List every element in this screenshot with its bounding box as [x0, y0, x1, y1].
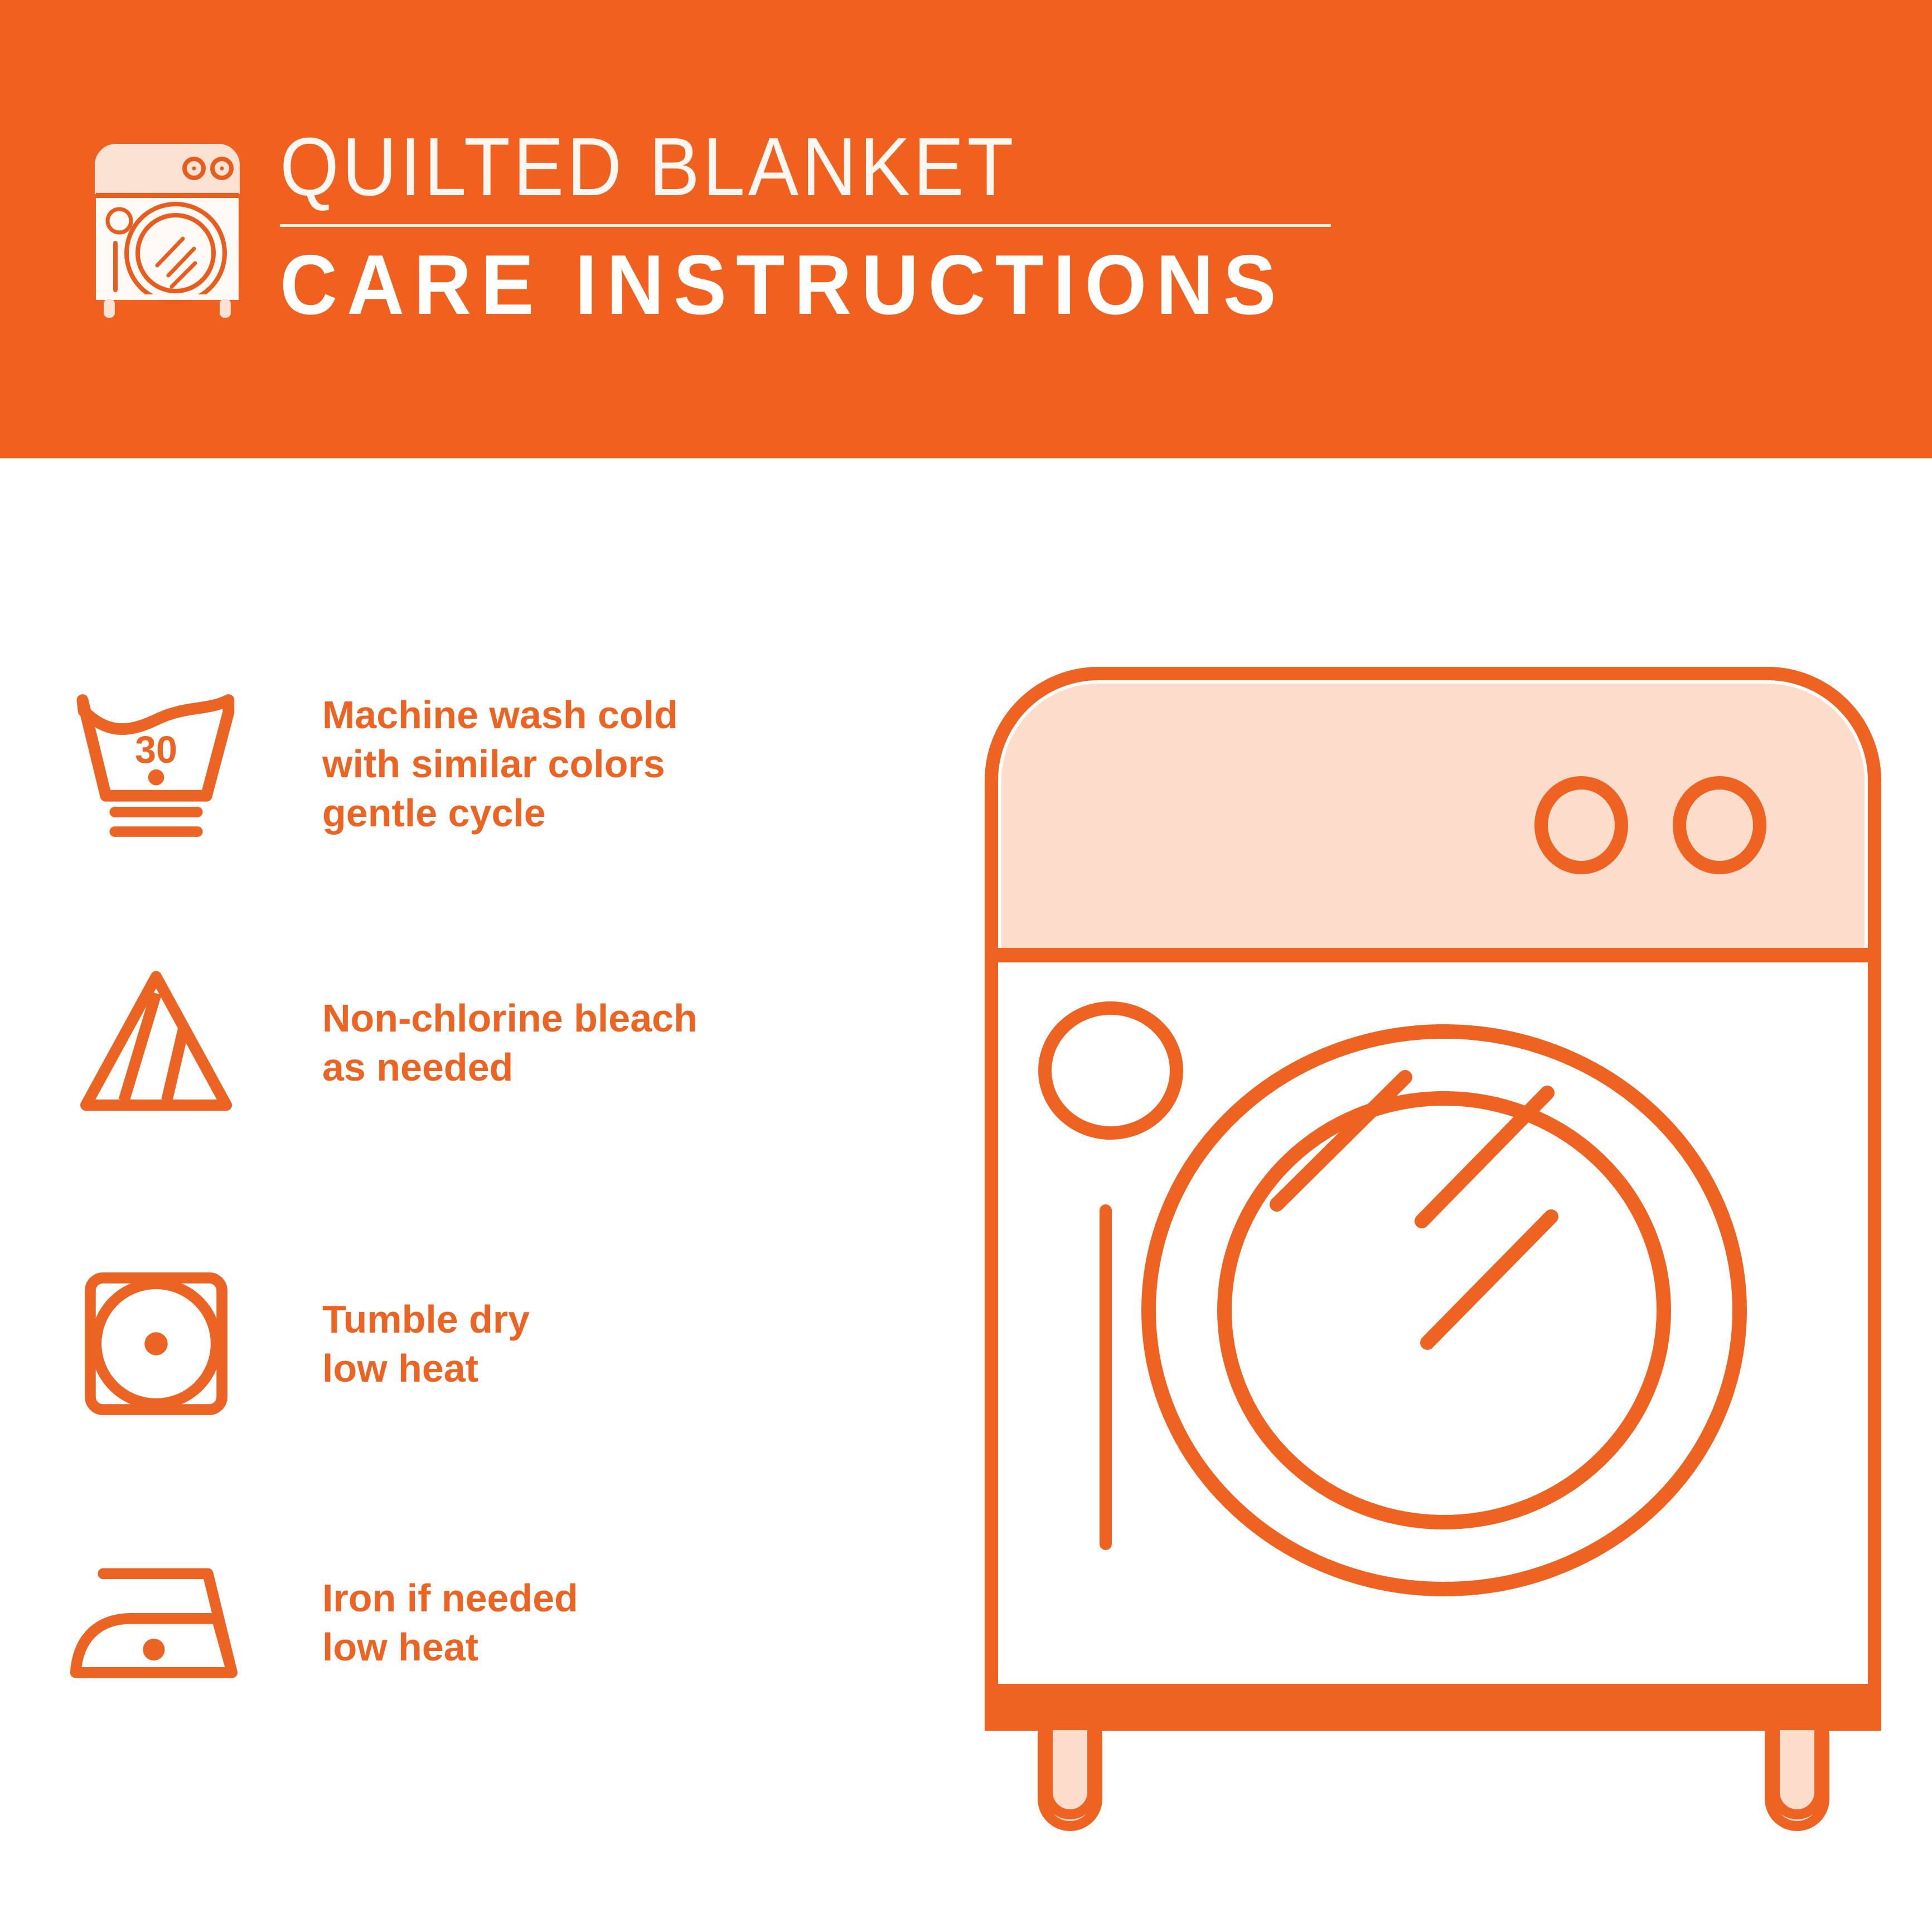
care-item-iron: Iron if needed low heat: [0, 1517, 920, 1728]
tumble-dry-low-heat-icon: [0, 1238, 312, 1450]
washer-knob-left: [1541, 783, 1621, 868]
wash-temperature-label: 30: [135, 729, 177, 771]
header-title-block: QUILTED BLANKET CARE INSTRUCTIONS: [280, 123, 1339, 331]
care-text-line: gentle cycle: [322, 788, 920, 837]
care-text-line: Machine wash cold: [322, 690, 920, 739]
washer-knob-right: [1679, 783, 1760, 868]
iron-low-heat-icon: [0, 1517, 312, 1728]
care-item-bleach: Non-chlorine bleach as needed: [0, 937, 920, 1149]
control-panel-divider: [991, 948, 1875, 962]
non-chlorine-bleach-triangle-icon: [0, 937, 312, 1149]
door-edge-line: [1100, 1204, 1112, 1550]
care-item-text: Tumble dry low heat: [312, 1295, 920, 1393]
care-item-text: Non-chlorine bleach as needed: [312, 994, 920, 1092]
care-text-line: Iron if needed: [322, 1573, 920, 1623]
care-text-line: low heat: [322, 1344, 920, 1393]
care-instructions-poster: QUILTED BLANKET CARE INSTRUCTIONS 30: [0, 0, 1932, 1932]
title-divider: [280, 224, 1331, 227]
care-item-text: Iron if needed low heat: [312, 1573, 920, 1672]
page-title-primary: QUILTED BLANKET: [280, 123, 1255, 212]
washing-machine-icon: [84, 132, 251, 321]
care-text-line: low heat: [322, 1623, 920, 1672]
washer-base-bar: [991, 1684, 1875, 1725]
care-text-line: Tumble dry: [322, 1295, 920, 1344]
washing-machine-illustration: [965, 647, 1901, 1851]
care-text-line: Non-chlorine bleach: [322, 994, 920, 1043]
care-text-line: as needed: [322, 1043, 920, 1092]
header-band: QUILTED BLANKET CARE INSTRUCTIONS: [0, 0, 1932, 458]
care-text-line: with similar colors: [322, 739, 920, 788]
care-item-text: Machine wash cold with similar colors ge…: [312, 690, 920, 837]
header-content: QUILTED BLANKET CARE INSTRUCTIONS: [84, 123, 1327, 357]
washer-legs-front: [1048, 1725, 1819, 1814]
care-item-machine-wash: 30 Machine wash cold with similar colors…: [0, 658, 920, 870]
care-item-tumble-dry: Tumble dry low heat: [0, 1238, 920, 1450]
page-title-secondary: CARE INSTRUCTIONS: [280, 239, 1276, 331]
wash-tub-30-gentle-icon: 30: [0, 658, 312, 870]
